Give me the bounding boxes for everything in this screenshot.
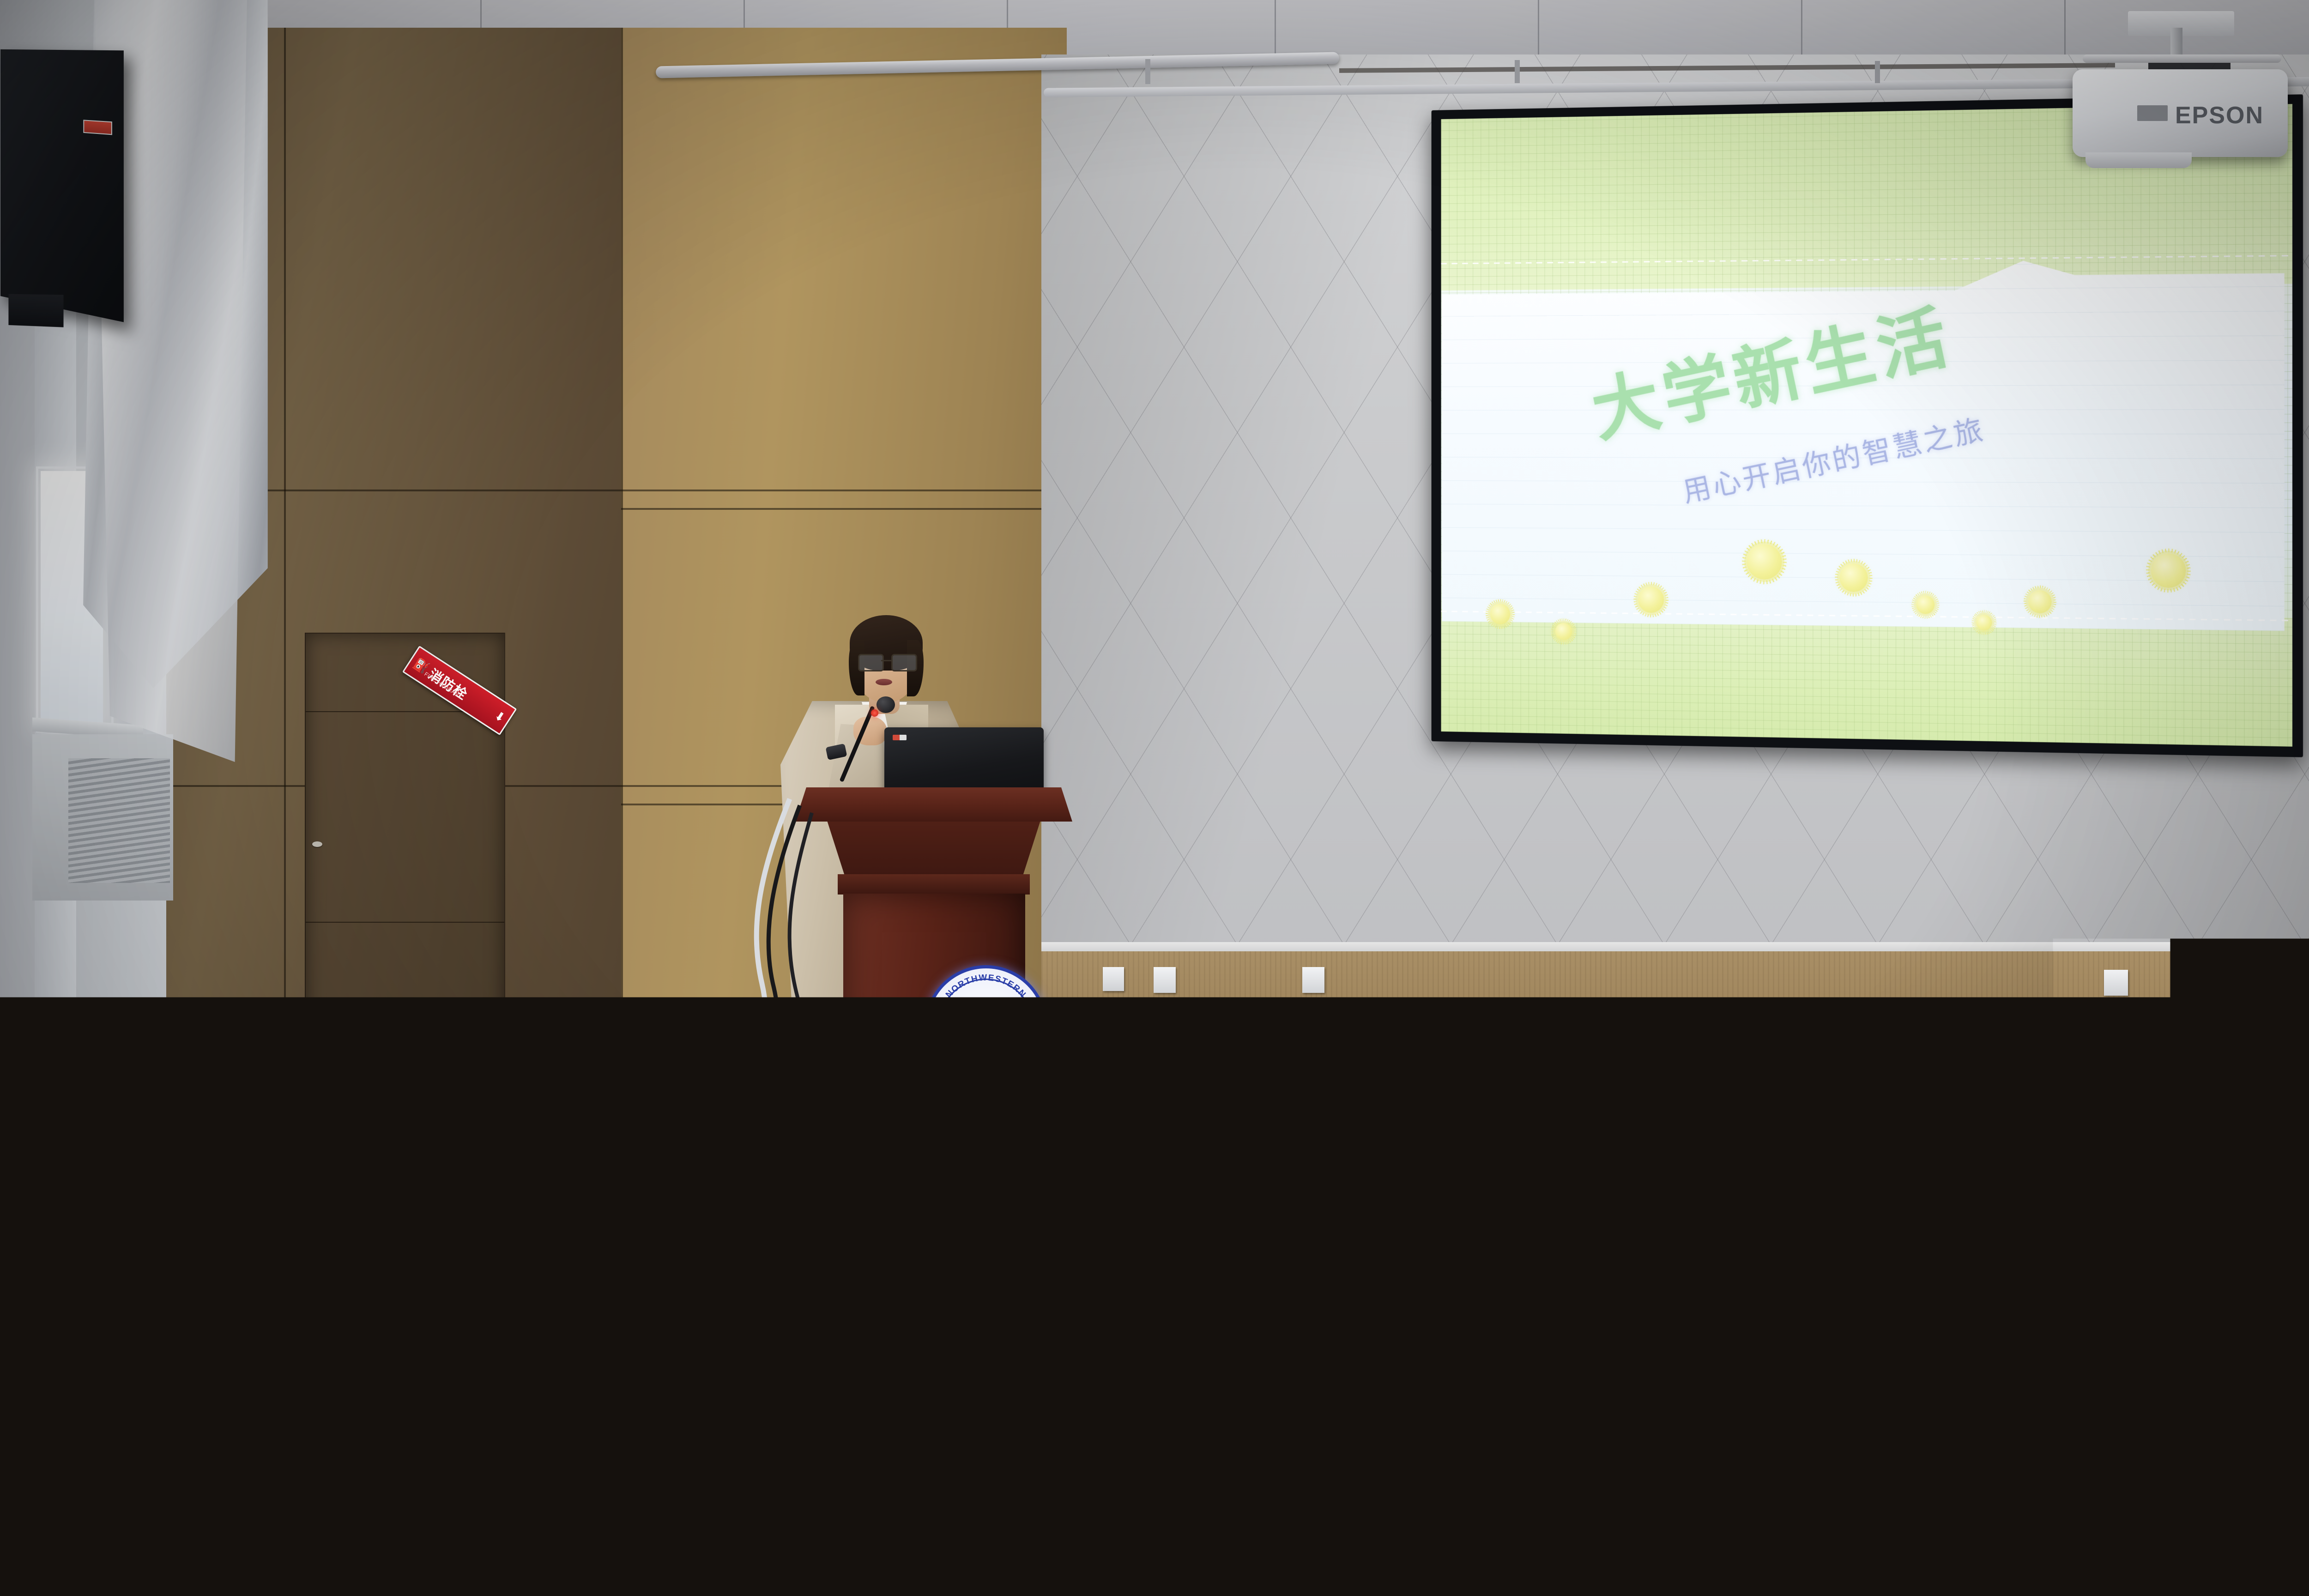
audience-head: [844, 1364, 970, 1495]
power-outlet[interactable]: [1154, 967, 1176, 993]
power-outlet[interactable]: [1302, 967, 1324, 993]
microphone-icon[interactable]: [876, 696, 895, 713]
projector-brand-label: EPSON: [2175, 102, 2264, 129]
audience-head: [868, 1039, 947, 1125]
projection-screen: 大学新生活 用心开启你的智慧之旅: [1432, 94, 2303, 757]
laptop-sticker-icon: [893, 735, 907, 740]
sun-icon: [1916, 595, 1934, 614]
radiator-cover: [32, 734, 173, 901]
sun-icon: [1555, 623, 1572, 640]
audience-head: [393, 1048, 464, 1126]
projector-mount-arms: [2083, 54, 2281, 63]
sun-icon: [1638, 586, 1664, 613]
wall-speaker-icon: [0, 49, 124, 322]
wall-switch[interactable]: [2104, 970, 2128, 996]
sun-icon: [1490, 604, 1510, 625]
wall-switch[interactable]: [1103, 967, 1124, 991]
presenter-mouth: [876, 679, 892, 685]
projector: EPSON: [2073, 69, 2288, 157]
lecture-hall-photo: ⛽ 消防栓 FIRE HYDRANT ⬇ 大学新生活 用心开启你的智慧之旅 EP…: [0, 0, 2309, 1596]
sun-icon: [2151, 553, 2186, 588]
phone[interactable]: [2165, 1242, 2185, 1276]
glasses-icon: [858, 654, 914, 670]
cabinet-knob-icon[interactable]: [312, 841, 322, 847]
projector-vent-icon: [2137, 105, 2168, 121]
audience-head: [2079, 1422, 2224, 1573]
audience-head: [665, 1071, 734, 1145]
microphone-led-indicator: [871, 709, 878, 717]
down-arrow-icon: ⬇: [492, 708, 508, 725]
sun-icon: [2028, 590, 2052, 614]
sun-icon: [1747, 544, 1782, 580]
projected-slide: 大学新生活 用心开启你的智慧之旅: [1441, 104, 2292, 747]
sun-icon: [1839, 563, 1868, 592]
sun-icon: [1977, 615, 1992, 631]
power-outlet[interactable]: [2183, 971, 2208, 997]
